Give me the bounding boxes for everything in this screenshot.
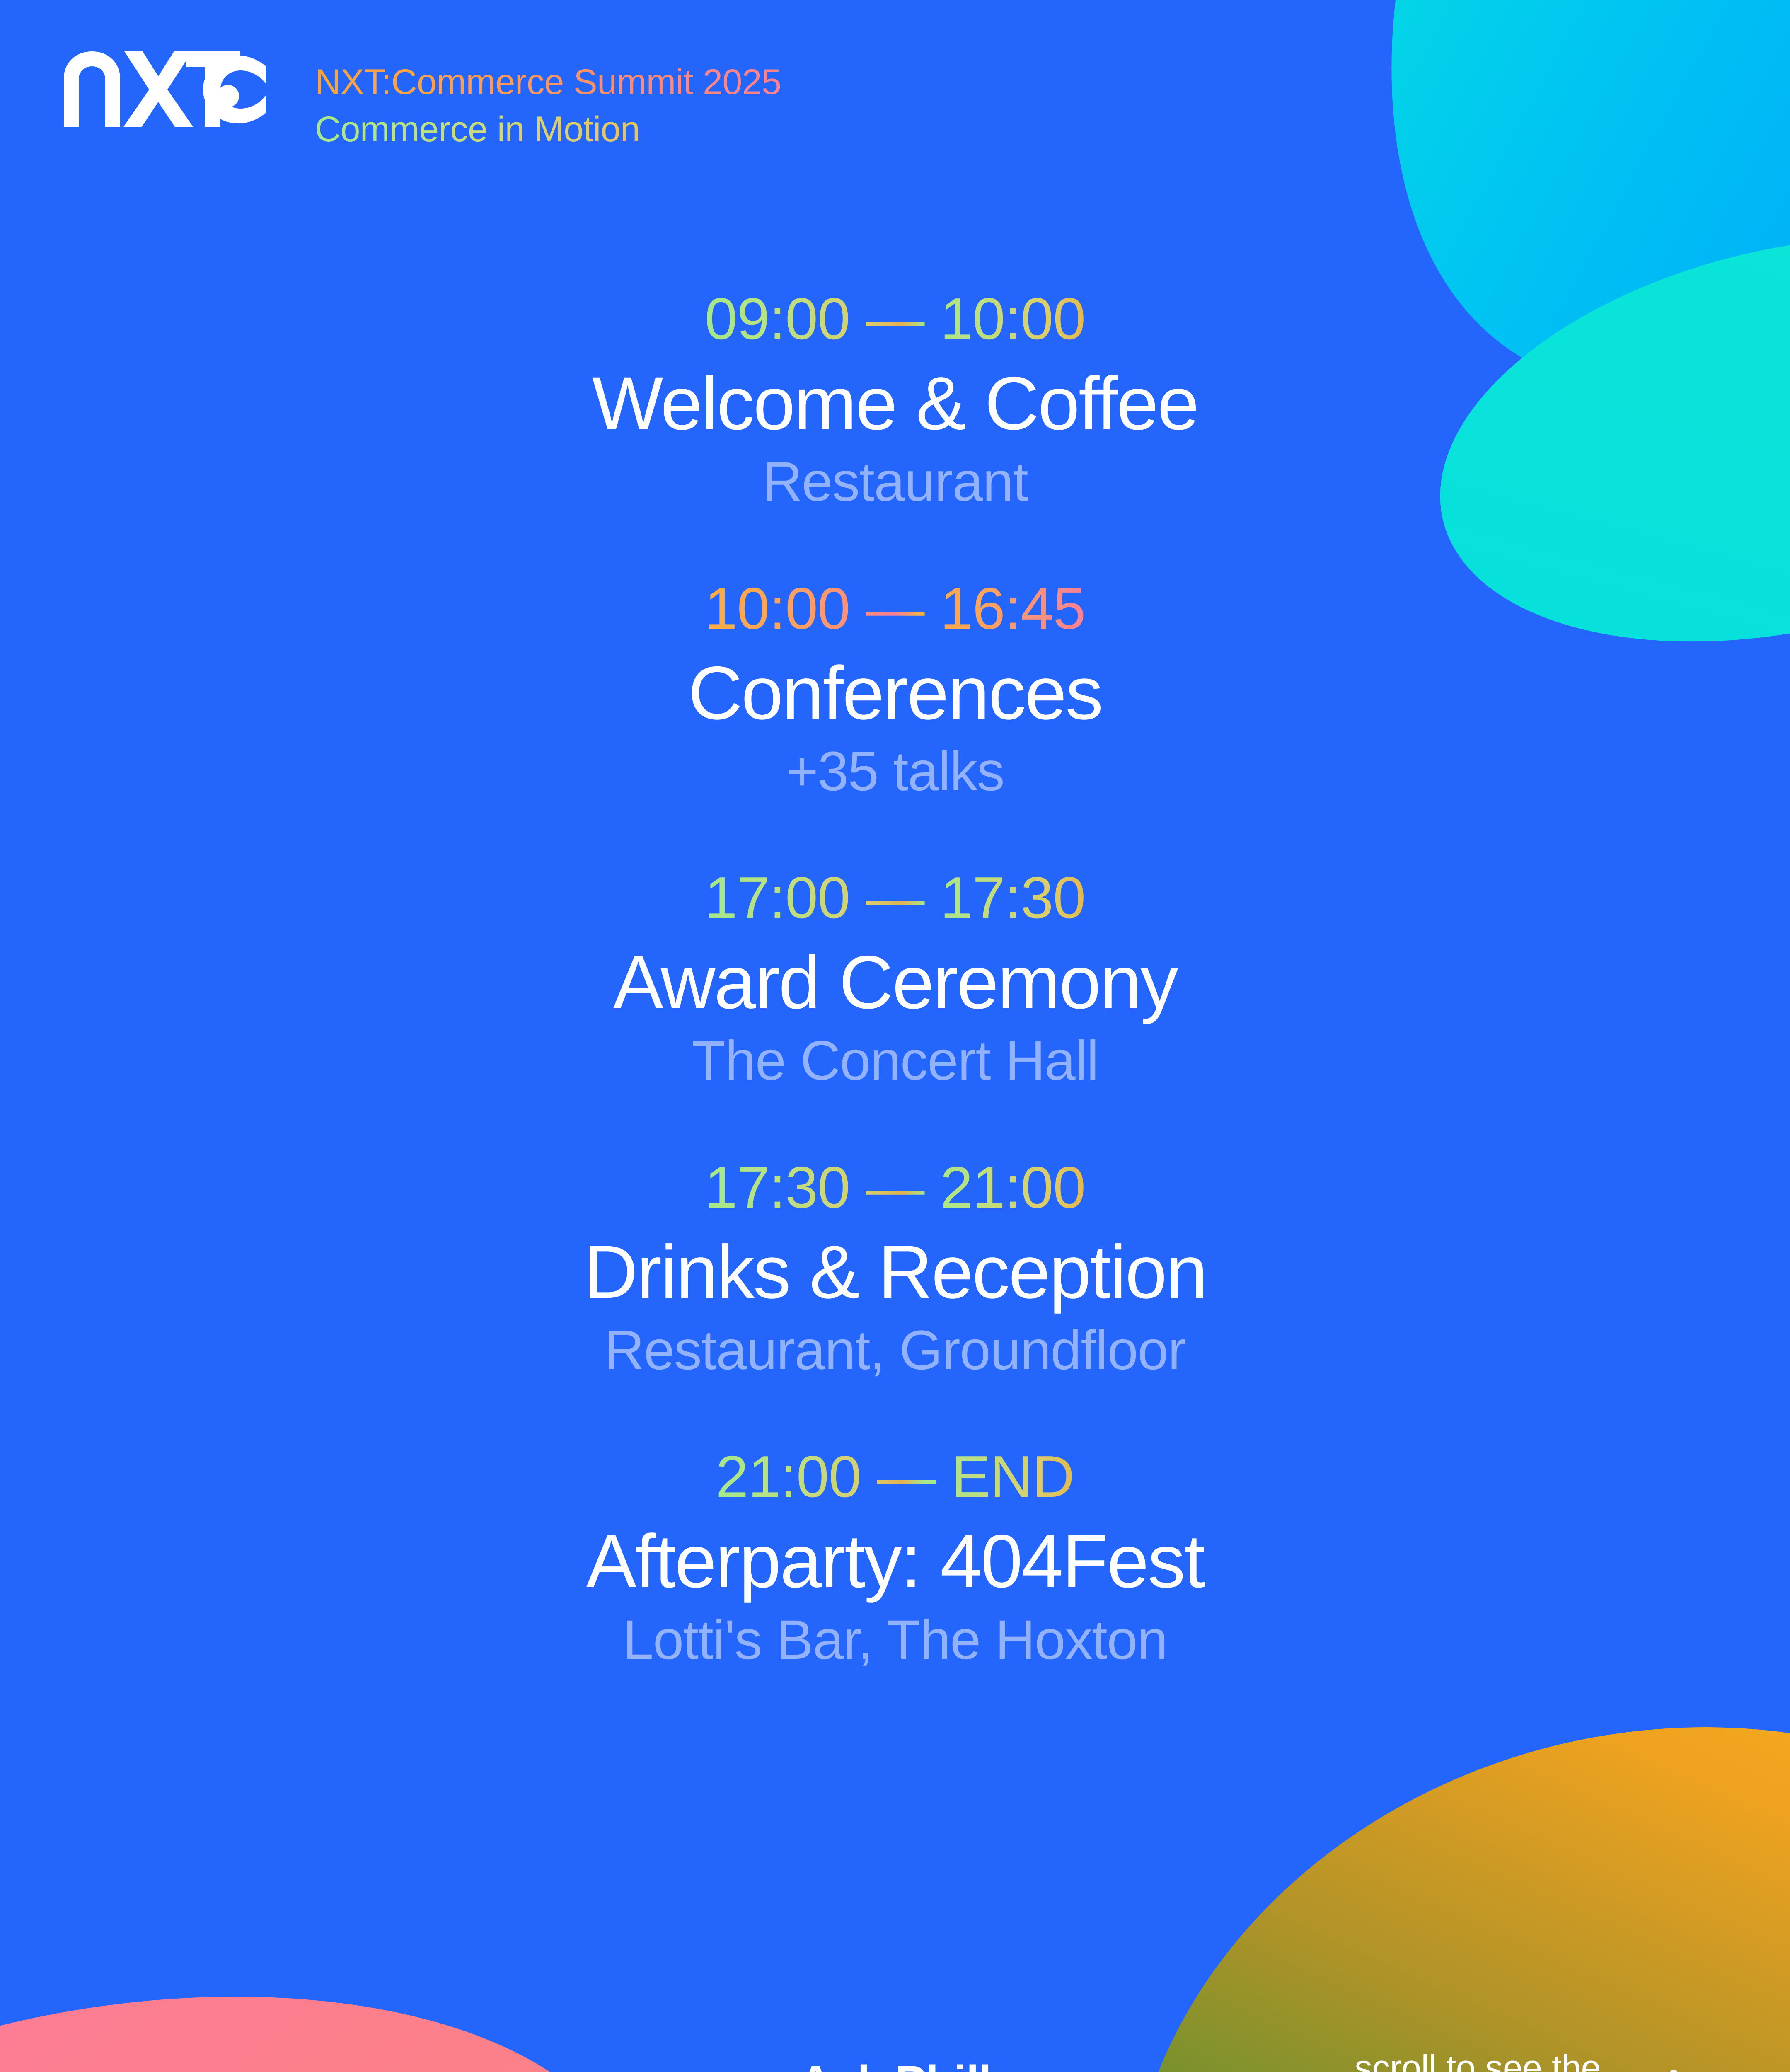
time-dash: —	[866, 865, 924, 931]
agenda-list: 09:00 — 10:00 Welcome & Coffee Restauran…	[0, 286, 1790, 1670]
agenda-item[interactable]: 21:00 — END Afterparty: 404Fest Lotti's …	[0, 1444, 1790, 1670]
agenda-item-venue: Restaurant	[0, 451, 1790, 512]
time-separator	[861, 1444, 877, 1510]
scroll-cta-line-1: scroll to see the	[1337, 2047, 1601, 2072]
time-gap	[924, 286, 940, 352]
time-start: 21:00	[716, 1444, 861, 1510]
scroll-cta[interactable]: scroll to see the detailed program	[1337, 2047, 1701, 2072]
agenda-item-time: 10:00 — 16:45	[705, 576, 1086, 641]
agenda-item-venue: Restaurant, Groundfloor	[0, 1320, 1790, 1381]
time-gap	[935, 1444, 951, 1510]
agenda-item-venue: +35 talks	[0, 741, 1790, 802]
agenda-item-time: 21:00 — END	[716, 1444, 1074, 1510]
agenda-item-time: 09:00 — 10:00	[705, 286, 1086, 352]
event-title: NXT:Commerce Summit 2025	[315, 59, 781, 106]
header-title-block: NXT:Commerce Summit 2025 Commerce in Mot…	[315, 50, 781, 153]
agenda-item-title: Drinks & Reception	[0, 1230, 1790, 1313]
time-start: 10:00	[705, 576, 850, 641]
agenda-item-time: 17:00 — 17:30	[705, 865, 1086, 931]
time-dash: —	[866, 1155, 924, 1220]
time-separator	[850, 865, 866, 931]
agenda-item-title: Afterparty: 404Fest	[0, 1520, 1790, 1602]
time-gap	[924, 576, 940, 641]
time-start: 17:30	[705, 1155, 850, 1220]
time-start: 09:00	[705, 286, 850, 352]
nxtc-logo[interactable]	[62, 50, 266, 128]
time-end: END	[951, 1444, 1074, 1510]
time-end: 10:00	[940, 286, 1085, 352]
time-separator	[850, 576, 866, 641]
agenda-item-title: Award Ceremony	[0, 941, 1790, 1024]
time-end: 16:45	[940, 576, 1085, 641]
agenda-item[interactable]: 10:00 — 16:45 Conferences +35 talks	[0, 576, 1790, 802]
time-dash: —	[877, 1444, 935, 1510]
time-gap	[924, 865, 940, 931]
time-end: 17:30	[940, 865, 1085, 931]
agenda-item-title: Conferences	[0, 651, 1790, 734]
time-start: 17:00	[705, 865, 850, 931]
time-separator	[850, 1155, 866, 1220]
pink-blob-bottom-left	[0, 1928, 677, 2072]
agenda-item[interactable]: 09:00 — 10:00 Welcome & Coffee Restauran…	[0, 286, 1790, 513]
agenda-item-venue: Lotti's Bar, The Hoxton	[0, 1610, 1790, 1670]
agenda-item-venue: The Concert Hall	[0, 1030, 1790, 1091]
scroll-cta-text: scroll to see the detailed program	[1337, 2047, 1601, 2072]
time-end: 21:00	[940, 1155, 1085, 1220]
agenda-item-time: 17:30 — 21:00	[705, 1155, 1086, 1220]
time-separator	[850, 286, 866, 352]
event-tagline: Commerce in Motion	[315, 106, 640, 153]
green-orange-blob-bottom-right	[1027, 1615, 1790, 2072]
time-dash: —	[866, 286, 924, 352]
time-dash: —	[866, 576, 924, 641]
agenda-item-title: Welcome & Coffee	[0, 362, 1790, 445]
arrow-right-icon[interactable]	[1622, 2070, 1701, 2072]
agenda-item[interactable]: 17:00 — 17:30 Award Ceremony The Concert…	[0, 865, 1790, 1092]
page-header: NXT:Commerce Summit 2025 Commerce in Mot…	[62, 50, 781, 153]
time-gap	[924, 1155, 940, 1220]
agenda-item[interactable]: 17:30 — 21:00 Drinks & Reception Restaur…	[0, 1155, 1790, 1381]
